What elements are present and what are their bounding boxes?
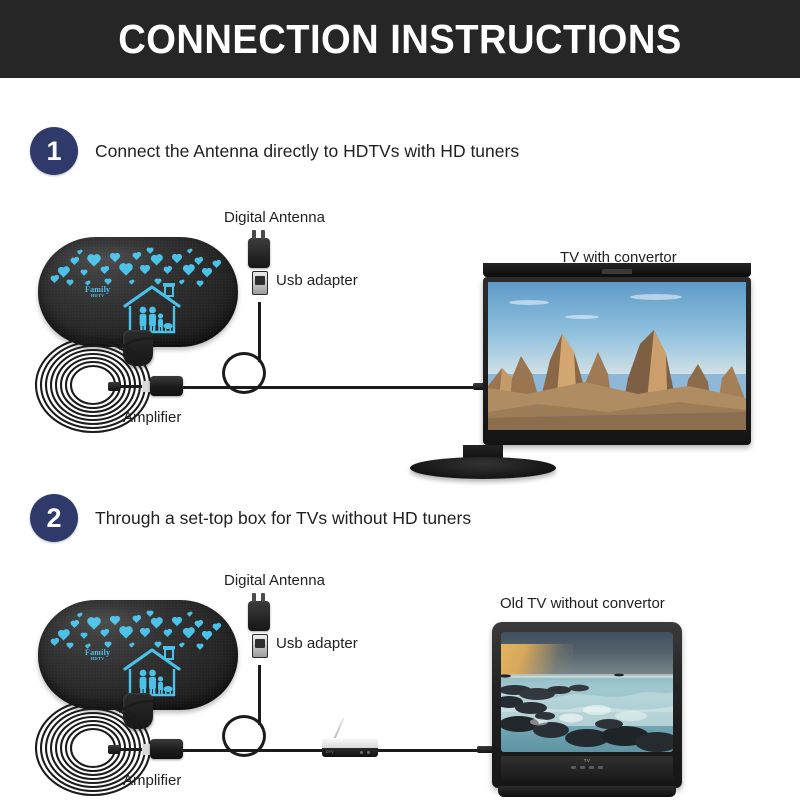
stb-brand-label: DTV: [326, 750, 334, 754]
usb-a-plug-2: [252, 634, 268, 658]
usb-adapter-label-2: Usb adapter: [276, 635, 358, 652]
old-tv-base: [498, 786, 676, 797]
digital-antenna-label-2: Digital Antenna: [224, 572, 325, 589]
set-top-box: DTV: [322, 732, 382, 764]
coax-connector-2: [108, 745, 120, 754]
old-tv-label: Old TV without convertor: [500, 595, 665, 612]
usb-cable-to-amp-2: [199, 749, 227, 752]
amplifier-box-2: [150, 739, 183, 759]
stb-led-2: [367, 751, 370, 754]
usb-cable-loop-2: [222, 715, 266, 757]
step-2-diagram: Family HDTV: [0, 0, 800, 800]
adapter-prong-left-2: [252, 593, 256, 602]
old-tv-buttons[interactable]: [571, 766, 603, 769]
usb-cable-vertical-2: [258, 665, 261, 725]
old-tv-brand: TV: [584, 758, 591, 763]
old-tv-control-panel: TV: [501, 756, 673, 780]
old-tv-screen: [501, 632, 673, 752]
adapter-prong-right-2: [261, 593, 265, 602]
antenna-brand-text-2: Family HDTV: [85, 649, 110, 662]
coax-old-tv-connector: [477, 746, 493, 753]
antenna-brand-sub-2: HDTV: [85, 657, 110, 662]
usb-wall-adapter-2: [248, 601, 270, 631]
cable-stb-to-tv: [378, 749, 481, 752]
step-2-antenna-assembly: Family HDTV: [38, 600, 338, 790]
amplifier-label-2: Amplifier: [123, 772, 181, 789]
seascape-image: [501, 632, 673, 752]
stb-led-1: [360, 751, 363, 754]
